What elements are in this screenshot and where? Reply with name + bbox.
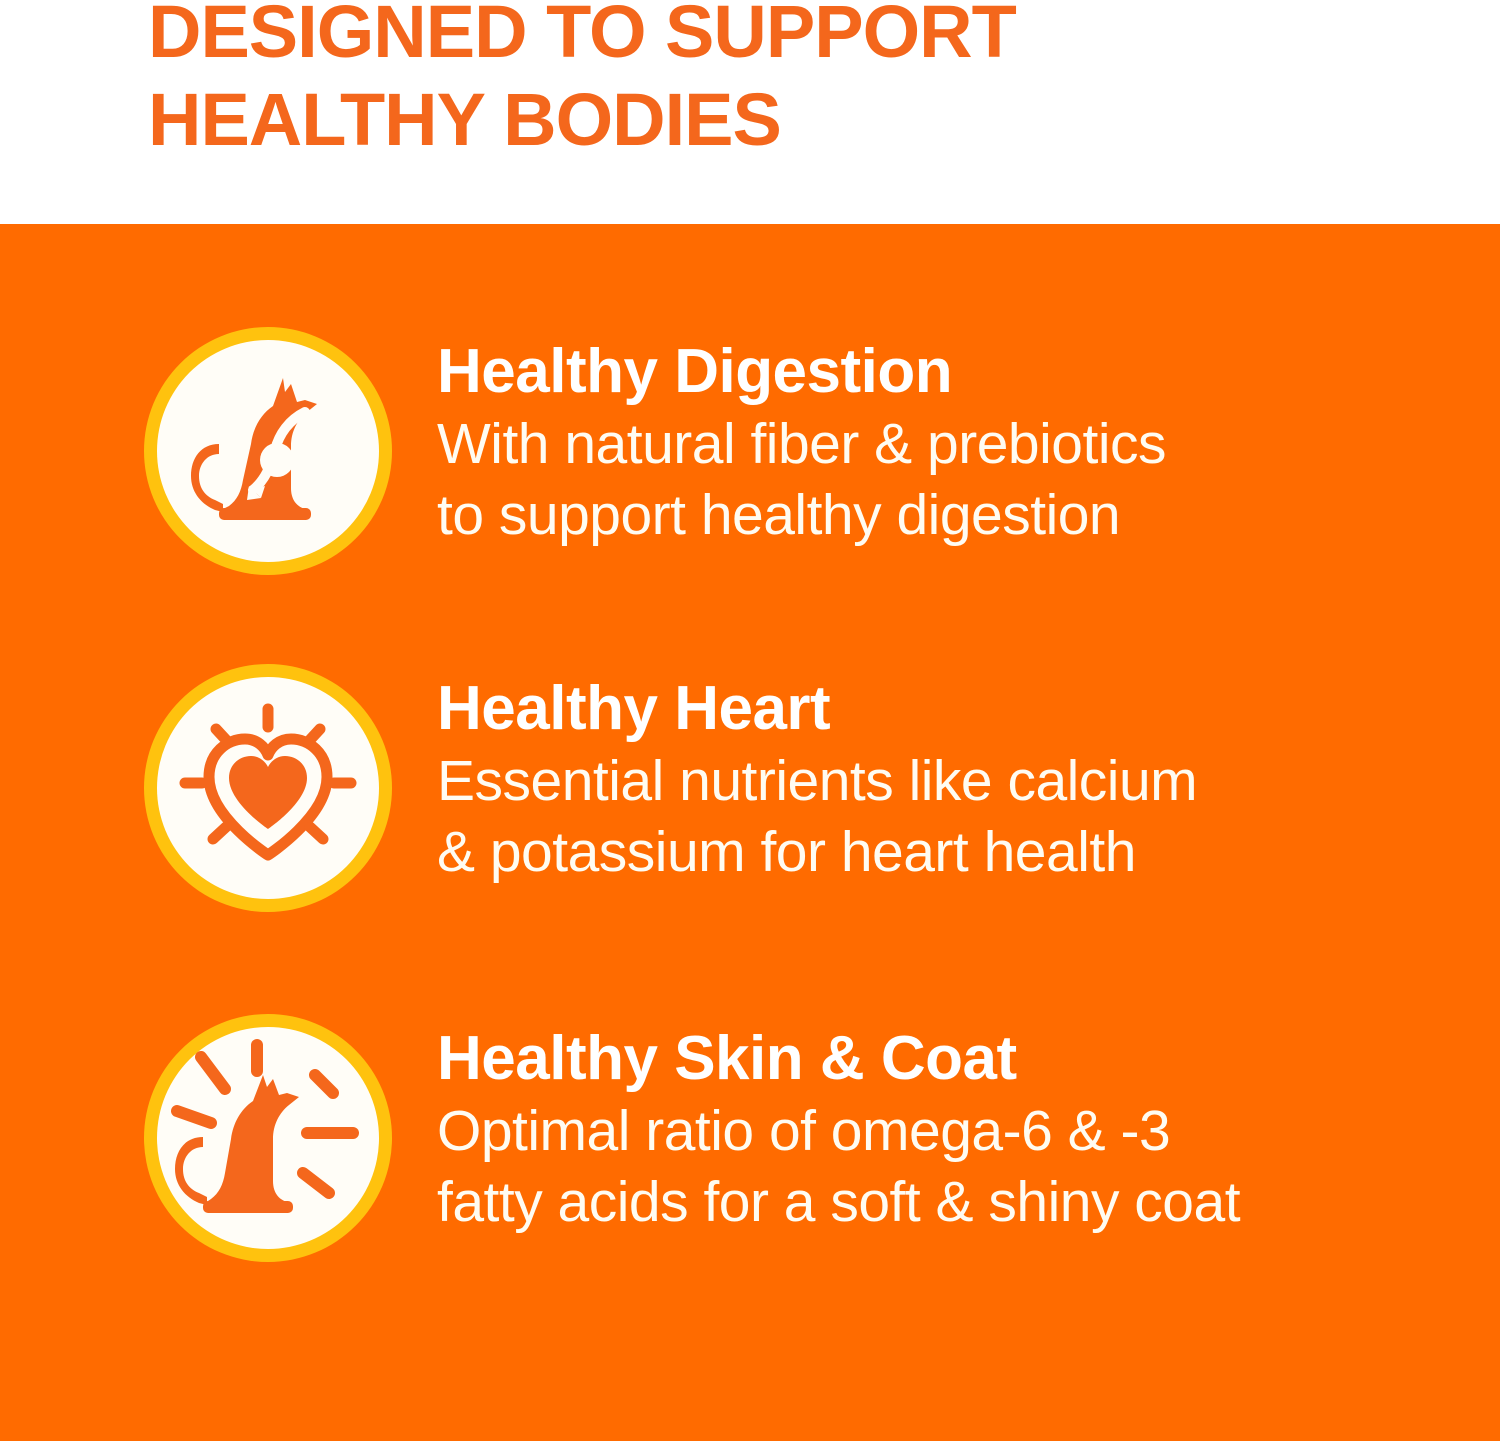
benefit-description: Essential nutrients like calcium & potas… [437, 746, 1447, 888]
shiny-cat-icon [157, 1027, 379, 1249]
infographic-page: DESIGNED TO SUPPORT HEALTHY BODIES [0, 0, 1500, 1441]
radiant-heart-icon [157, 677, 379, 899]
benefit-item-digestion: Healthy Digestion With natural fiber & p… [0, 327, 1500, 627]
header-band: DESIGNED TO SUPPORT HEALTHY BODIES [0, 0, 1500, 224]
benefit-title: Healthy Heart [437, 672, 1447, 746]
page-title: DESIGNED TO SUPPORT HEALTHY BODIES [148, 0, 1348, 164]
benefit-item-skin-coat: Healthy Skin & Coat Optimal ratio of ome… [0, 1014, 1500, 1314]
benefit-text-block: Healthy Heart Essential nutrients like c… [437, 672, 1447, 888]
benefit-icon-medallion [144, 327, 392, 575]
benefit-icon-medallion [144, 664, 392, 912]
benefit-icon-medallion [144, 1014, 392, 1262]
benefit-list: Healthy Digestion With natural fiber & p… [0, 224, 1500, 1441]
benefit-item-heart: Healthy Heart Essential nutrients like c… [0, 664, 1500, 964]
benefit-title: Healthy Skin & Coat [437, 1022, 1447, 1096]
cat-digestion-icon [157, 340, 379, 562]
benefits-panel: Healthy Digestion With natural fiber & p… [0, 224, 1500, 1441]
benefit-text-block: Healthy Digestion With natural fiber & p… [437, 335, 1447, 551]
benefit-description: With natural fiber & prebiotics to suppo… [437, 409, 1447, 551]
benefit-text-block: Healthy Skin & Coat Optimal ratio of ome… [437, 1022, 1447, 1238]
benefit-description: Optimal ratio of omega-6 & -3 fatty acid… [437, 1096, 1447, 1238]
benefit-title: Healthy Digestion [437, 335, 1447, 409]
